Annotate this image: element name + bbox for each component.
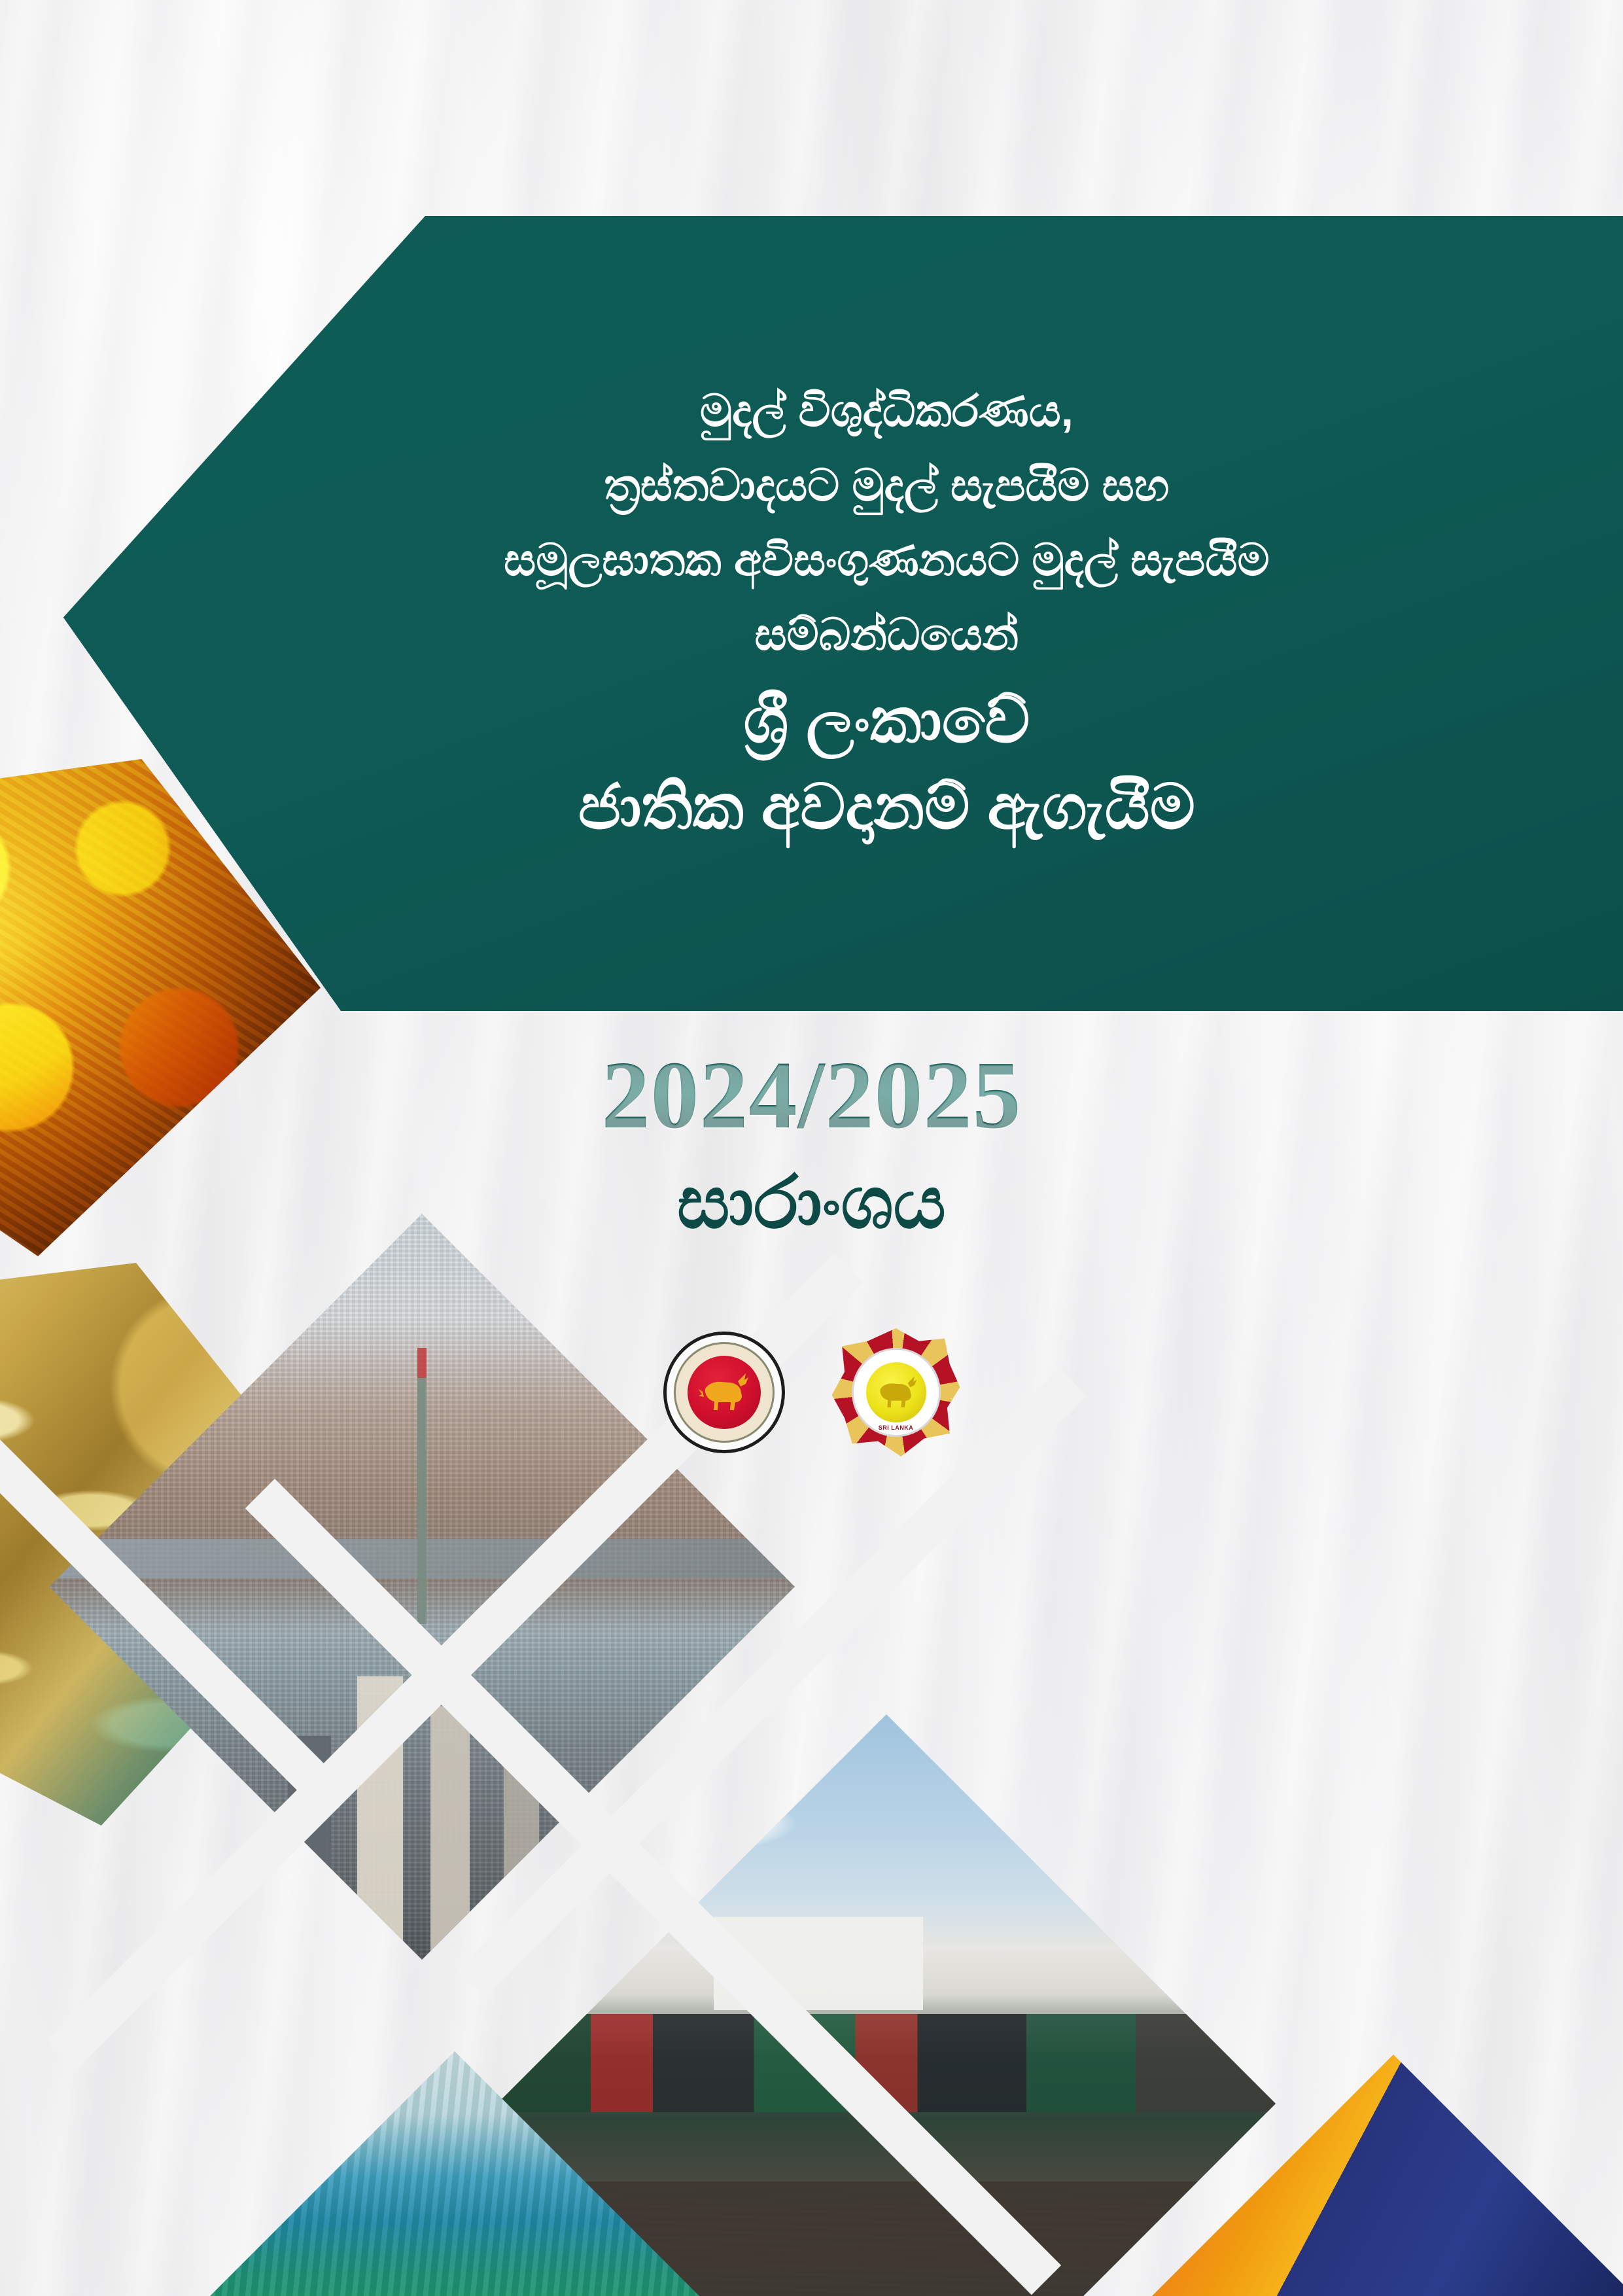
title-line-3: සමූලඝාතක අවිසංගුණනයට මුදල් සැපයීම xyxy=(504,538,1269,582)
container-ship-photo xyxy=(497,1714,1276,2296)
headline-line-1: ශ්‍රී ලංකාවේ xyxy=(744,690,1030,752)
summary-label: සාරාංශය xyxy=(0,1166,1623,1239)
title-line-4: සම්බන්ධයෙන් xyxy=(755,612,1019,657)
seal-inner-ring xyxy=(674,1342,775,1443)
lion-rosette-icon xyxy=(875,1373,918,1412)
title-banner-text: මුදල් විශුද්ධිකරණය, ත්‍රස්තවාදයට මුදල් ස… xyxy=(0,216,1623,1011)
year-and-summary-block: 2024/2025 සාරාංශය xyxy=(0,1047,1623,1239)
year-label: 2024/2025 xyxy=(0,1047,1623,1144)
document-cover-page: මුදල් විශුද්ධිකරණය, ත්‍රස්තවාදයට මුදල් ස… xyxy=(0,0,1623,2296)
badge-caption: SRI LANKA xyxy=(854,1424,939,1431)
seal-core xyxy=(688,1356,761,1429)
headline-line-2: ජාතික අවදානම් ඇගැයීම xyxy=(578,776,1195,839)
lion-emblem-icon xyxy=(699,1369,750,1415)
title-line-1: මුදල් විශුද්ධිකරණය, xyxy=(700,389,1073,433)
badge-core xyxy=(866,1362,926,1422)
emblem-row: SRI LANKA xyxy=(0,1328,1623,1457)
badge-white-ring: SRI LANKA xyxy=(852,1348,941,1437)
title-line-2: ත්‍රස්තවාදයට මුදල් සැපයීම සහ xyxy=(604,463,1169,508)
central-bank-of-sri-lanka-seal xyxy=(663,1332,785,1453)
financial-intelligence-unit-badge: SRI LANKA xyxy=(832,1328,960,1457)
